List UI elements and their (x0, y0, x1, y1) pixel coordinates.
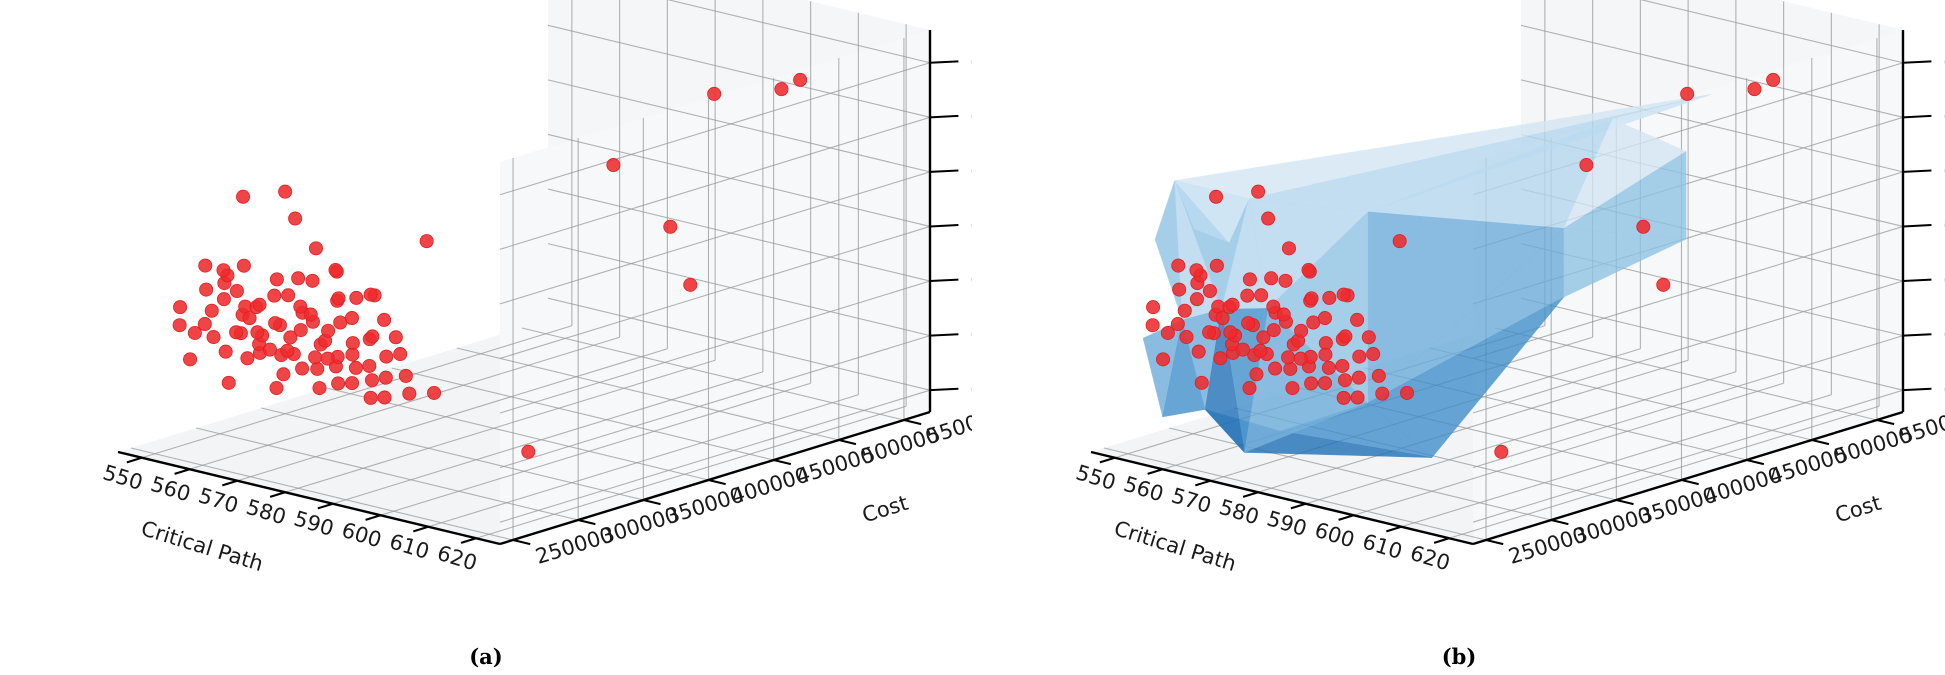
scatter-point (1146, 319, 1159, 332)
scatter-point (1367, 347, 1380, 360)
scatter-point (1279, 274, 1292, 287)
scatter-point (306, 274, 319, 287)
x-tick (413, 527, 428, 532)
x-tick-label: 610 (387, 529, 432, 564)
y-tick (1486, 540, 1503, 544)
x-tick (318, 504, 333, 509)
x-tick (127, 458, 142, 463)
scatter-point (1302, 263, 1315, 276)
scatter-point (1393, 235, 1406, 248)
figure-container: 550560570580590600610620Critical Path250… (0, 0, 1945, 675)
z-tick-label: 6300 (970, 378, 972, 402)
scatter-point (1295, 324, 1308, 337)
x-tick-label: 550 (1073, 460, 1118, 495)
scatter-point (346, 348, 359, 361)
x-tick-label: 590 (1264, 506, 1309, 541)
x-tick (1195, 481, 1210, 486)
scatter-point (1226, 298, 1239, 311)
scatter-point (1284, 362, 1297, 375)
panel-a: 550560570580590600610620Critical Path250… (0, 0, 972, 675)
y-tick (1551, 520, 1568, 524)
x-tick-label: 590 (291, 506, 336, 541)
scatter-point (1336, 359, 1349, 372)
y-tick (774, 460, 791, 464)
y-axis-label: Cost (859, 491, 911, 528)
scatter-point (1180, 330, 1193, 343)
scatter-point (1318, 311, 1331, 324)
z-tick (930, 389, 958, 390)
z-tick (1903, 116, 1931, 117)
scatter-point (321, 352, 334, 365)
scatter-point (1305, 292, 1318, 305)
scatter-point (378, 391, 391, 404)
scatter-point (1339, 330, 1352, 343)
x-tick-label: 600 (339, 518, 384, 553)
scatter-point (281, 344, 294, 357)
scatter-point (1156, 353, 1169, 366)
scatter-point (1637, 220, 1650, 233)
x-tick (1148, 469, 1163, 474)
scatter-point (1657, 278, 1670, 291)
scatter-point (200, 283, 213, 296)
scatter-point (1243, 273, 1256, 286)
scatter-point (403, 387, 416, 400)
scatter-point (1353, 350, 1366, 363)
x-tick-label: 570 (1169, 483, 1214, 518)
z-tick (1903, 225, 1931, 226)
scatter-point (263, 343, 276, 356)
scatter-point (664, 220, 677, 233)
x-tick (1386, 527, 1401, 532)
scatter-point (1210, 259, 1223, 272)
scatter-point (1351, 391, 1364, 404)
scatter-point (1580, 158, 1593, 171)
x-tick-label: 550 (100, 460, 145, 495)
x-axis-label: Critical Path (1111, 516, 1239, 576)
scatter-point (1323, 291, 1336, 304)
scatter-point (1767, 73, 1780, 86)
y-tick (1812, 440, 1829, 444)
y-tick (513, 540, 530, 544)
scatter-point (279, 185, 292, 198)
scatter-point (282, 289, 295, 302)
y-tick (1877, 420, 1894, 424)
panel-a-caption: (a) (0, 644, 972, 669)
scatter-point (268, 289, 281, 302)
scatter-point (219, 345, 232, 358)
scatter-point (775, 83, 788, 96)
scatter-point (253, 298, 266, 311)
scatter-point (1243, 381, 1256, 394)
scatter-point (427, 386, 440, 399)
scatter-point (217, 293, 230, 306)
scatter-point (1178, 304, 1191, 317)
x-tick (270, 492, 285, 497)
scatter-point (363, 359, 376, 372)
scatter-point (241, 352, 254, 365)
scatter-point (349, 361, 362, 374)
scatter-point (205, 304, 218, 317)
scatter-point (420, 235, 433, 248)
x-tick (1339, 515, 1354, 520)
z-tick-label: 6400 (970, 269, 972, 293)
scatter-point (364, 391, 377, 404)
scatter-point (294, 323, 307, 336)
scatter-point (1224, 326, 1237, 339)
scatter-point (1146, 301, 1159, 314)
scatter-point (1319, 348, 1332, 361)
scatter-point (1242, 317, 1255, 330)
scatter-point (1262, 212, 1275, 225)
z-tick-label: 6450 (970, 214, 972, 238)
x-tick-label: 610 (1360, 529, 1405, 564)
scatter-point (198, 317, 211, 330)
z-tick-label: 6550 (970, 105, 972, 129)
scatter-point (607, 158, 620, 171)
y-axis-label: Cost (1832, 491, 1884, 528)
panel-b-caption: (b) (973, 644, 1945, 669)
scatter-point (270, 273, 283, 286)
scatter-point (313, 381, 326, 394)
scatter-point (332, 377, 345, 390)
scatter-point (1282, 351, 1295, 364)
scatter-point (207, 330, 220, 343)
scatter-point (1376, 387, 1389, 400)
scatter-point (1236, 343, 1249, 356)
z-tick (930, 280, 958, 281)
x-tick (1243, 492, 1258, 497)
scatter-point (1203, 284, 1216, 297)
scatter-point (708, 87, 721, 100)
scatter-point (1351, 313, 1364, 326)
scatter-point (329, 263, 342, 276)
y-tick (708, 480, 725, 484)
scatter-point (1681, 87, 1694, 100)
scatter-point (1362, 331, 1375, 344)
y-tick (1681, 480, 1698, 484)
scatter-point (379, 371, 392, 384)
x-tick-label: 620 (1407, 541, 1452, 576)
scatter-point (1372, 369, 1385, 382)
scatter-point (1337, 391, 1350, 404)
scatter-point (237, 259, 250, 272)
scatter-point (389, 331, 402, 344)
scatter-point (1307, 316, 1320, 329)
scatter-point (1338, 374, 1351, 387)
scatter-3d-surface-plot-b: 550560570580590600610620Critical Path250… (973, 0, 1945, 600)
scatter-point (251, 326, 264, 339)
scatter-point (365, 374, 378, 387)
scatter-point (794, 73, 807, 86)
scatter-point (277, 368, 290, 381)
scatter-point (183, 353, 196, 366)
scatter-point (311, 362, 324, 375)
scatter-point (1171, 317, 1184, 330)
scatter-point (1337, 288, 1350, 301)
scatter-point (230, 284, 243, 297)
scatter-point (522, 445, 535, 458)
y-tick (904, 420, 921, 424)
z-tick (930, 170, 958, 171)
x-tick-label: 620 (434, 541, 479, 576)
scatter-point (378, 313, 391, 326)
scatter-point (304, 308, 317, 321)
scatter-point (1305, 377, 1318, 390)
scatter-point (1268, 362, 1281, 375)
x-tick-label: 560 (1121, 472, 1166, 507)
scatter-point (289, 212, 302, 225)
scatter-point (684, 278, 697, 291)
scatter-point (1322, 361, 1335, 374)
scatter-point (1192, 345, 1205, 358)
scatter-point (1748, 83, 1761, 96)
z-tick (1903, 334, 1931, 335)
scatter-point (1250, 368, 1263, 381)
scatter-point (217, 264, 230, 277)
scatter-point (1255, 289, 1268, 302)
scatter-point (292, 272, 305, 285)
scatter-point (236, 190, 249, 203)
x-tick (222, 481, 237, 486)
x-axis-label: Critical Path (138, 516, 266, 576)
scatter-point (269, 317, 282, 330)
y-tick (1747, 460, 1764, 464)
scatter-point (394, 347, 407, 360)
y-tick (578, 520, 595, 524)
scatter-point (295, 362, 308, 375)
scatter-point (1202, 326, 1215, 339)
scatter-point (1277, 308, 1290, 321)
scatter-point (1252, 185, 1265, 198)
scatter-point (1267, 323, 1280, 336)
x-tick (1100, 458, 1115, 463)
x-tick (366, 515, 381, 520)
scatter-point (366, 330, 379, 343)
scatter-point (1172, 259, 1185, 272)
x-tick-label: 570 (196, 483, 241, 518)
scatter-point (270, 381, 283, 394)
scatter-point (1294, 352, 1307, 365)
scatter-point (1318, 376, 1331, 389)
scatter-point (1495, 445, 1508, 458)
z-tick (930, 116, 958, 117)
x-tick-label: 600 (1312, 518, 1357, 553)
z-tick (1903, 280, 1931, 281)
x-tick-label: 580 (1216, 495, 1261, 530)
x-tick (1291, 504, 1306, 509)
z-tick (930, 334, 958, 335)
z-tick (1903, 170, 1931, 171)
z-tick-label: 6600 (970, 50, 972, 74)
scatter-point (222, 376, 235, 389)
scatter-point (309, 242, 322, 255)
scatter-point (322, 324, 335, 337)
scatter-point (1195, 376, 1208, 389)
scatter-point (332, 292, 345, 305)
scatter-point (1190, 264, 1203, 277)
scatter-point (345, 311, 358, 324)
y-tick (839, 440, 856, 444)
scatter-point (345, 376, 358, 389)
x-tick (461, 538, 476, 543)
y-tick (643, 500, 660, 504)
scatter-point (1190, 293, 1203, 306)
scatter-point (173, 301, 186, 314)
scatter-3d-plot-a: 550560570580590600610620Critical Path250… (0, 0, 972, 600)
z-tick (930, 61, 958, 62)
z-tick (1903, 389, 1931, 390)
z-tick-label: 6350 (970, 323, 972, 347)
scatter-point (1286, 381, 1299, 394)
scatter-point (380, 350, 393, 363)
scatter-point (1282, 242, 1295, 255)
x-tick-label: 580 (243, 495, 288, 530)
scatter-point (1209, 190, 1222, 203)
scatter-point (364, 288, 377, 301)
x-tick (175, 469, 190, 474)
scatter-point (1241, 289, 1254, 302)
z-tick-label: 6500 (970, 159, 972, 183)
scatter-point (399, 369, 412, 382)
scatter-point (229, 326, 242, 339)
y-tick (1616, 500, 1633, 504)
scatter-point (309, 351, 322, 364)
scatter-point (350, 291, 363, 304)
scatter-point (1214, 352, 1227, 365)
x-tick-label: 560 (148, 472, 193, 507)
scatter-point (1254, 344, 1267, 357)
scatter-point (1173, 283, 1186, 296)
x-tick (1434, 538, 1449, 543)
scatter-point (334, 316, 347, 329)
scatter-point (173, 319, 186, 332)
scatter-point (1352, 371, 1365, 384)
scatter-point (199, 259, 212, 272)
scatter-point (1265, 272, 1278, 285)
panel-b: 550560570580590600610620Critical Path250… (973, 0, 1945, 675)
z-tick (930, 225, 958, 226)
scatter-point (1400, 386, 1413, 399)
z-tick (1903, 61, 1931, 62)
